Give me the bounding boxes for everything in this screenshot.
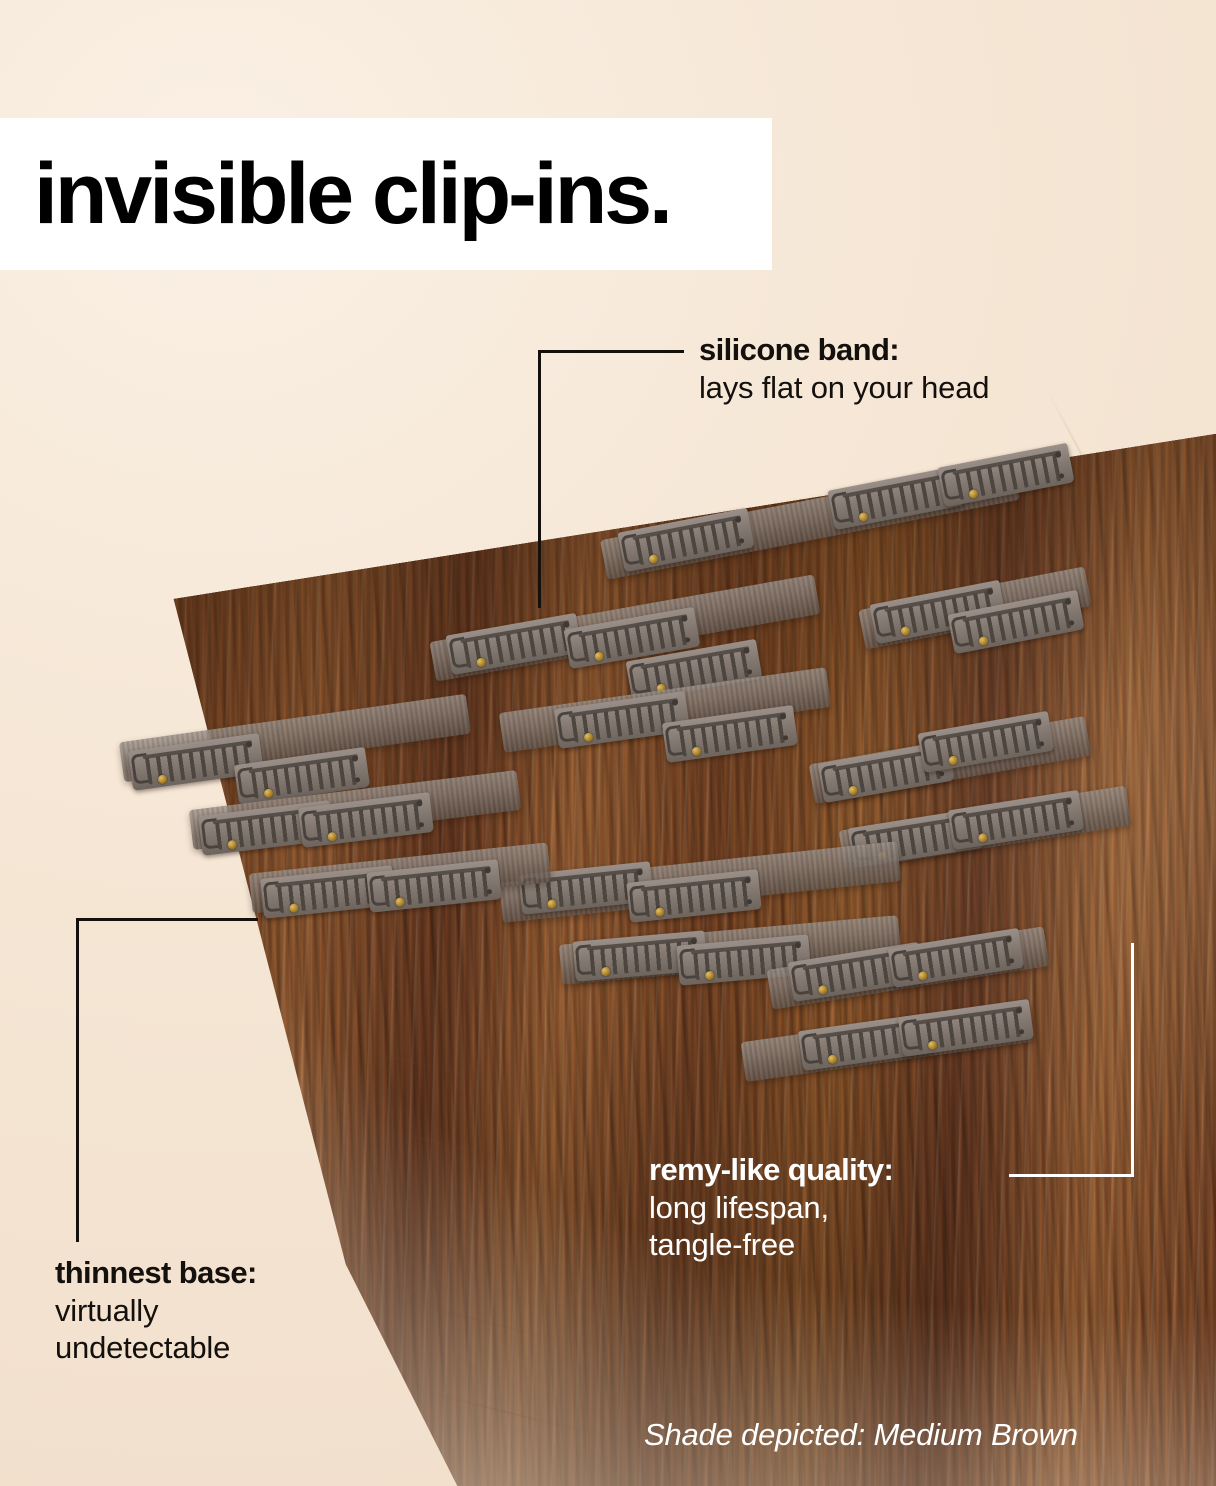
infographic-canvas: invisible clip-ins. silicone band: lays … <box>0 0 1216 1486</box>
callout-body-line-2: tangle-free <box>649 1226 1119 1263</box>
callout-heading: remy-like quality: <box>649 1152 1119 1189</box>
callout-body-line-2: undetectable <box>55 1329 455 1366</box>
callout-remy-like-quality: remy-like quality: long lifespan, tangle… <box>649 1152 1119 1263</box>
leader-line-thinnest-base <box>76 918 258 1244</box>
callout-body: lays flat on your head <box>699 369 1169 406</box>
callout-silicone-band: silicone band: lays flat on your head <box>699 332 1169 406</box>
callout-thinnest-base: thinnest base: virtually undetectable <box>55 1255 455 1366</box>
callout-heading: thinnest base: <box>55 1255 455 1292</box>
title-band: invisible clip-ins. <box>0 118 772 270</box>
page-title: invisible clip-ins. <box>34 151 670 237</box>
callout-heading: silicone band: <box>699 332 1169 369</box>
leader-line-silicone-band <box>538 350 684 610</box>
leader-line-remy-quality <box>1009 943 1134 1177</box>
callout-body-line-1: virtually <box>55 1292 455 1329</box>
callout-body-line-1: long lifespan, <box>649 1189 1119 1226</box>
shade-depicted-note: Shade depicted: Medium Brown <box>644 1417 1078 1453</box>
